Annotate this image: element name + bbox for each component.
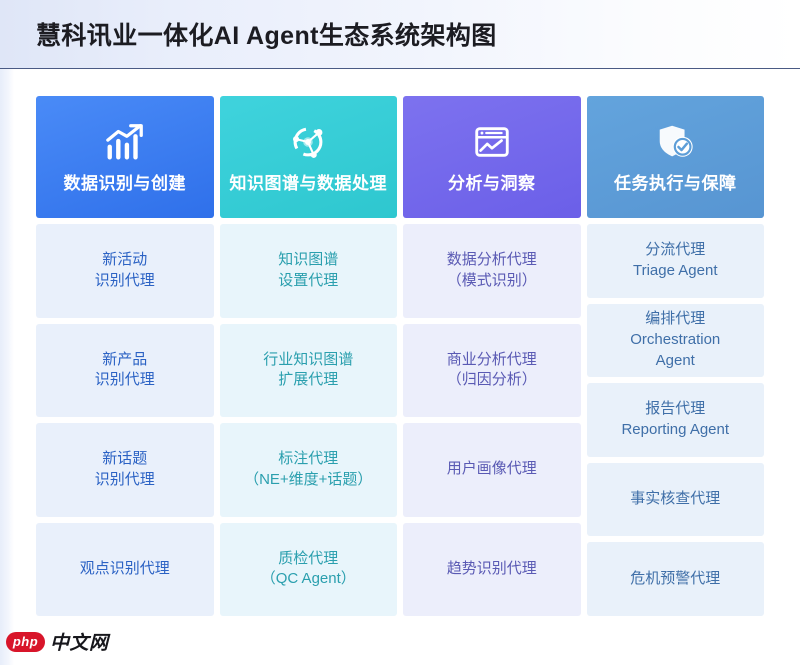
- agent-cell-line: 识别代理: [95, 271, 155, 292]
- page-title: 慧科讯业一体化AI Agent生态系统架构图: [36, 16, 497, 52]
- header-band: 慧科讯业一体化AI Agent生态系统架构图: [0, 0, 800, 69]
- shield-check-icon: [652, 121, 698, 163]
- agent-cell-line: 识别代理: [95, 470, 155, 491]
- agent-cell-line: （归因分析）: [447, 370, 537, 391]
- column-task-execution-assurance: 任务执行与保障 分流代理 Triage Agent 编排代理 Orchestra…: [587, 96, 765, 616]
- dashboard-chart-icon: [469, 121, 515, 163]
- agent-cell[interactable]: 报告代理 Reporting Agent: [587, 383, 765, 457]
- agent-cell-line: 编排代理: [645, 309, 705, 330]
- agent-cell[interactable]: 分流代理 Triage Agent: [587, 224, 765, 298]
- agent-cell[interactable]: 商业分析代理 （归因分析）: [403, 324, 581, 418]
- agent-cell[interactable]: 新话题 识别代理: [36, 423, 214, 517]
- agent-cell-line: 危机预警代理: [630, 569, 720, 590]
- agent-cell-line: 识别代理: [95, 370, 155, 391]
- agent-cell-line: 数据分析代理: [447, 250, 537, 271]
- agent-cell-line: Agent: [656, 351, 695, 372]
- agent-cell[interactable]: 危机预警代理: [587, 542, 765, 616]
- architecture-grid: 数据识别与创建 新活动 识别代理 新产品 识别代理 新话题 识别代理 观点识别代…: [36, 96, 764, 616]
- agent-cell-line: 分流代理: [645, 240, 705, 261]
- agent-cell-line: （QC Agent）: [261, 569, 356, 590]
- agent-cell-line: 观点识别代理: [80, 559, 170, 580]
- agent-cell[interactable]: 知识图谱 设置代理: [220, 224, 398, 318]
- agent-cell-line: 事实核查代理: [630, 489, 720, 510]
- column-header-label: 知识图谱与数据处理: [230, 169, 388, 194]
- agent-cell-line: Triage Agent: [633, 261, 718, 282]
- column-data-recognition-creation: 数据识别与创建 新活动 识别代理 新产品 识别代理 新话题 识别代理 观点识别代…: [36, 96, 214, 616]
- agent-cell-line: Reporting Agent: [621, 420, 729, 441]
- agent-cell-line: Orchestration: [630, 330, 720, 351]
- column-header-task-execution-assurance[interactable]: 任务执行与保障: [587, 96, 765, 218]
- column-header-data-recognition-creation[interactable]: 数据识别与创建: [36, 96, 214, 218]
- agent-cell[interactable]: 标注代理 （NE+维度+话题）: [220, 423, 398, 517]
- agent-cell[interactable]: 趋势识别代理: [403, 523, 581, 617]
- column-header-analysis-insight[interactable]: 分析与洞察: [403, 96, 581, 218]
- agent-cell-line: 新活动: [102, 250, 147, 271]
- agent-cell[interactable]: 数据分析代理 （模式识别）: [403, 224, 581, 318]
- agent-cell[interactable]: 新产品 识别代理: [36, 324, 214, 418]
- agent-cell-line: 用户画像代理: [447, 459, 537, 480]
- agent-cell-line: （模式识别）: [447, 271, 537, 292]
- agent-cell-line: 新话题: [102, 449, 147, 470]
- bar-chart-growth-icon: [102, 121, 148, 163]
- agent-cell-line: 商业分析代理: [447, 350, 537, 371]
- network-graph-icon: [285, 121, 331, 163]
- agent-cell[interactable]: 新活动 识别代理: [36, 224, 214, 318]
- agent-cell[interactable]: 事实核查代理: [587, 463, 765, 537]
- column-cells: 新活动 识别代理 新产品 识别代理 新话题 识别代理 观点识别代理: [36, 224, 214, 616]
- column-header-label: 分析与洞察: [448, 169, 536, 194]
- left-edge-tint: [0, 0, 14, 665]
- watermark: php 中文网: [6, 628, 109, 655]
- agent-cell[interactable]: 编排代理 Orchestration Agent: [587, 304, 765, 378]
- agent-cell-line: 知识图谱: [278, 250, 338, 271]
- column-header-label: 任务执行与保障: [614, 169, 737, 194]
- column-header-knowledge-graph-data-processing[interactable]: 知识图谱与数据处理: [220, 96, 398, 218]
- agent-cell[interactable]: 行业知识图谱 扩展代理: [220, 324, 398, 418]
- agent-cell[interactable]: 观点识别代理: [36, 523, 214, 617]
- php-logo-badge: php: [6, 632, 45, 652]
- column-cells: 知识图谱 设置代理 行业知识图谱 扩展代理 标注代理 （NE+维度+话题） 质检…: [220, 224, 398, 616]
- agent-cell[interactable]: 用户画像代理: [403, 423, 581, 517]
- agent-cell-line: 行业知识图谱: [263, 350, 353, 371]
- column-header-label: 数据识别与创建: [64, 169, 187, 194]
- column-cells: 数据分析代理 （模式识别） 商业分析代理 （归因分析） 用户画像代理 趋势识别代…: [403, 224, 581, 616]
- agent-cell-line: 质检代理: [278, 549, 338, 570]
- agent-cell-line: 趋势识别代理: [447, 559, 537, 580]
- watermark-text: 中文网: [50, 628, 109, 655]
- agent-cell-line: 新产品: [102, 350, 147, 371]
- agent-cell-line: 标注代理: [278, 449, 338, 470]
- column-analysis-insight: 分析与洞察 数据分析代理 （模式识别） 商业分析代理 （归因分析） 用户画像代理…: [403, 96, 581, 616]
- agent-cell-line: 设置代理: [278, 271, 338, 292]
- agent-cell-line: （NE+维度+话题）: [244, 470, 372, 491]
- agent-cell-line: 扩展代理: [278, 370, 338, 391]
- column-knowledge-graph-data-processing: 知识图谱与数据处理 知识图谱 设置代理 行业知识图谱 扩展代理 标注代理 （NE…: [220, 96, 398, 616]
- architecture-diagram-page: 慧科讯业一体化AI Agent生态系统架构图 数据识别与创建: [0, 0, 800, 665]
- agent-cell[interactable]: 质检代理 （QC Agent）: [220, 523, 398, 617]
- agent-cell-line: 报告代理: [645, 399, 705, 420]
- column-cells: 分流代理 Triage Agent 编排代理 Orchestration Age…: [587, 224, 765, 616]
